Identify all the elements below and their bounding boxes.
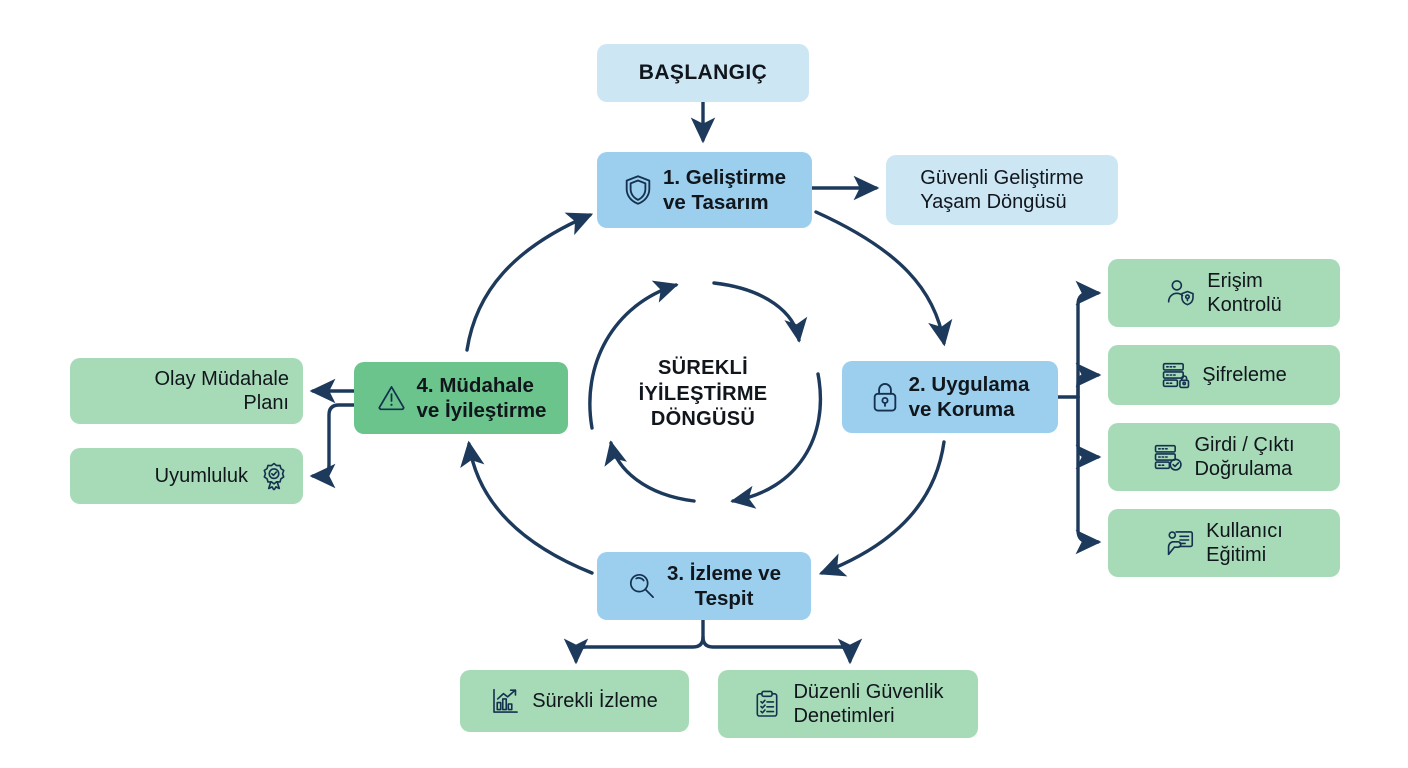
output-box-security-audits-label: Düzenli Güvenlik Denetimleri xyxy=(793,680,943,729)
output-box-encryption-label: Şifreleme xyxy=(1202,363,1286,387)
output-box-incident-response-plan[interactable]: Olay Müdahale Planı xyxy=(70,358,303,424)
step-2-label: 2. Uygulama ve Koruma xyxy=(909,372,1030,422)
output-box-incident-response-plan-label: Olay Müdahale Planı xyxy=(154,367,289,416)
output-box-sdlc[interactable]: Güvenli Geliştirme Yaşam Döngüsü xyxy=(886,155,1118,225)
warning-triangle-icon xyxy=(376,383,407,413)
server-check-icon xyxy=(1153,442,1183,472)
output-box-io-validation-label: Girdi / Çıktı Doğrulama xyxy=(1194,433,1294,482)
step-4-label: 4. Müdahale ve İyileştirme xyxy=(417,373,547,423)
output-box-encryption[interactable]: Şifreleme xyxy=(1108,345,1340,405)
output-box-access-control[interactable]: Erişim Kontrolü xyxy=(1108,259,1340,327)
output-box-io-validation[interactable]: Girdi / Çıktı Doğrulama xyxy=(1108,423,1340,491)
output-box-security-audits[interactable]: Düzenli Güvenlik Denetimleri xyxy=(718,670,978,738)
start-node[interactable]: BAŞLANGIÇ xyxy=(597,44,809,102)
connector-step2-to-step3 xyxy=(822,442,944,573)
presentation-person-icon xyxy=(1165,528,1195,558)
diagram-canvas: BAŞLANGIÇ 1. Geliştirme ve Tasarım Güven… xyxy=(0,0,1408,768)
connector-step3-to-audits xyxy=(703,637,850,661)
cycle-arc-bottom-left xyxy=(611,443,694,501)
user-shield-icon xyxy=(1166,278,1196,308)
output-box-continuous-monitoring-label: Sürekli İzleme xyxy=(532,689,658,713)
step-node-1[interactable]: 1. Geliştirme ve Tasarım xyxy=(597,152,812,228)
output-box-compliance[interactable]: Uyumluluk xyxy=(70,448,303,504)
shield-icon xyxy=(623,174,653,206)
connector-step2-to-encryption xyxy=(1078,375,1098,397)
connector-step3-to-step4 xyxy=(469,444,592,573)
lock-icon xyxy=(871,381,899,413)
server-lock-icon xyxy=(1161,360,1191,390)
cycle-caption: SÜREKLİ İYİLEŞTİRME DÖNGÜSÜ xyxy=(603,356,803,433)
step-node-3[interactable]: 3. İzleme ve Tespit xyxy=(597,552,811,620)
connector-step3-bus xyxy=(576,620,703,661)
output-box-access-control-label: Erişim Kontrolü xyxy=(1207,269,1282,318)
step-3-label: 3. İzleme ve Tespit xyxy=(667,561,781,611)
output-box-user-training-label: Kullanıcı Eğitimi xyxy=(1206,519,1283,568)
award-badge-icon xyxy=(259,461,289,491)
connector-step2-to-user-training xyxy=(1078,397,1098,542)
step-1-label: 1. Geliştirme ve Tasarım xyxy=(663,165,786,215)
connector-step2-to-io-validation xyxy=(1078,397,1098,457)
output-box-continuous-monitoring[interactable]: Sürekli İzleme xyxy=(460,670,689,732)
step-node-4[interactable]: 4. Müdahale ve İyileştirme xyxy=(354,362,568,434)
connector-step4-to-compliance xyxy=(313,405,354,476)
output-box-sdlc-label: Güvenli Geliştirme Yaşam Döngüsü xyxy=(920,166,1083,215)
connector-step4-to-step1 xyxy=(467,215,590,350)
start-label: BAŞLANGIÇ xyxy=(639,60,767,86)
cycle-arc-top-right xyxy=(714,283,799,340)
chart-growth-icon xyxy=(491,686,521,716)
step-node-2[interactable]: 2. Uygulama ve Koruma xyxy=(842,361,1058,433)
output-box-compliance-label: Uyumluluk xyxy=(155,464,248,488)
connector-step1-to-step2 xyxy=(816,212,944,343)
clipboard-check-icon xyxy=(752,689,782,719)
output-box-user-training[interactable]: Kullanıcı Eğitimi xyxy=(1108,509,1340,577)
magnifier-icon xyxy=(627,571,657,601)
connector-step2-to-access-control xyxy=(1078,293,1098,397)
